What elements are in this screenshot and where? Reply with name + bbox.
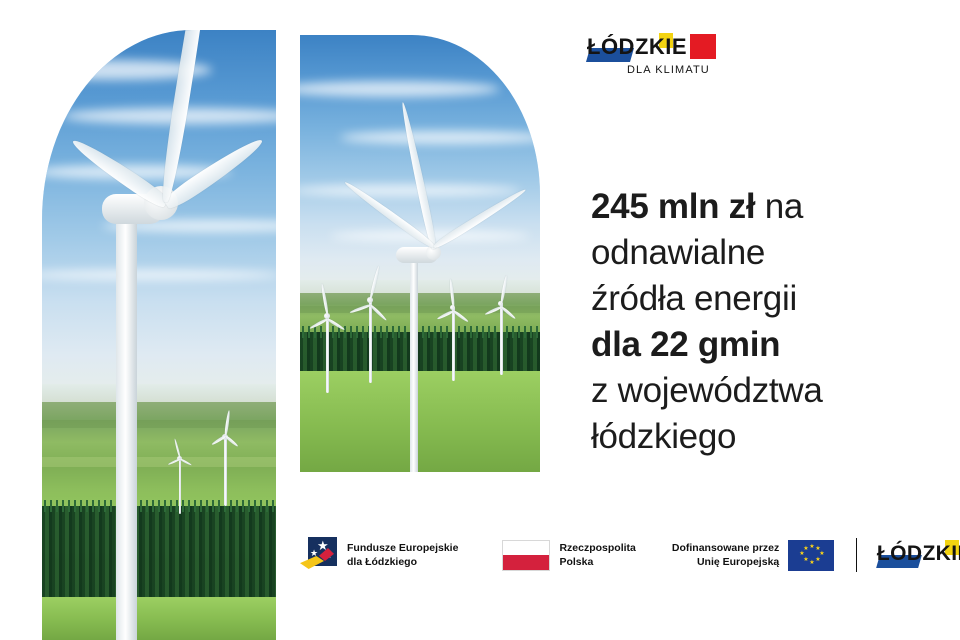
cofinanced-label: Dofinansowane przez Unię Europejską (672, 541, 779, 569)
logo-wordmark: ŁÓDZKIE (877, 542, 960, 565)
star-icon: ★ (815, 557, 820, 563)
eu-funds-label-line2: dla Łódzkiego (347, 555, 458, 569)
flag-red-stripe (503, 555, 549, 570)
footer-divider (856, 538, 857, 572)
headline-line-3: źródła energii (591, 276, 941, 322)
hero-image-right-arch (300, 35, 540, 472)
republic-label-line2: Polska (559, 555, 635, 569)
cofinanced-label-line1: Dofinansowane przez (672, 541, 779, 555)
eu-funds-label: Fundusze Europejskie dla Łódzkiego (347, 541, 458, 569)
page-headline: 245 mln zł na odnawialne źródła energii … (591, 184, 941, 460)
turbine-bg-r2 (356, 287, 384, 383)
republic-label-line1: Rzeczpospolita (559, 541, 635, 555)
flag-white-stripe (503, 541, 549, 556)
headline-municipalities: dla 22 gmin (591, 325, 780, 364)
star-icon: ★ (803, 546, 808, 552)
polish-flag-icon (502, 540, 550, 571)
headline-line-5: z województwa (591, 368, 941, 414)
turbine-foreground-left (62, 150, 276, 640)
turbine-bg-r3 (440, 297, 466, 381)
cofinanced-label-line2: Unię Europejską (672, 555, 779, 569)
logo-cofinanced-eu: Dofinansowane przez Unię Europejską ★ ★ … (672, 540, 834, 571)
logo-rzeczpospolita-polska: Rzeczpospolita Polska (502, 540, 635, 571)
eu-flag-icon: ★ ★ ★ ★ ★ ★ ★ ★ (788, 540, 834, 571)
eu-funds-label-line1: Fundusze Europejskie (347, 541, 458, 555)
headline-amount: 245 mln zł (591, 187, 755, 226)
brand-logo-lodzkie-footer: ŁÓDZKIE (877, 540, 920, 570)
headline-line-1: 245 mln zł na (591, 184, 941, 230)
headline-line-6: łódzkiego (591, 414, 941, 460)
headline-line1-rest: na (755, 187, 803, 226)
footer-logo-strip: ★ ★ ★ Fundusze Europejskie dla Łódzkiego… (300, 524, 920, 586)
turbine-bg-r1 (312, 303, 342, 393)
eu-funds-icon: ★ ★ ★ (300, 533, 338, 577)
headline-line-4: dla 22 gmin (591, 322, 941, 368)
turbine-bg-r4 (488, 293, 514, 375)
logo-wordmark: ŁÓDZKIE (587, 35, 722, 59)
star-icon: ★ (809, 560, 814, 566)
star-icon: ★ (803, 557, 808, 563)
logo-tagline: DLA KLIMATU (627, 64, 710, 76)
brand-logo-lodzkie-dla-klimatu: ŁÓDZKIE DLA KLIMATU (587, 33, 722, 81)
lodzkie-logo-mark: ŁÓDZKIE (587, 33, 722, 63)
star-icon: ★ (809, 544, 814, 550)
headline-line-2: odnawialne (591, 230, 941, 276)
hero-image-left-arch (42, 30, 276, 640)
republic-label: Rzeczpospolita Polska (559, 541, 635, 569)
logo-fundusze-europejskie: ★ ★ ★ Fundusze Europejskie dla Łódzkiego (300, 533, 458, 577)
